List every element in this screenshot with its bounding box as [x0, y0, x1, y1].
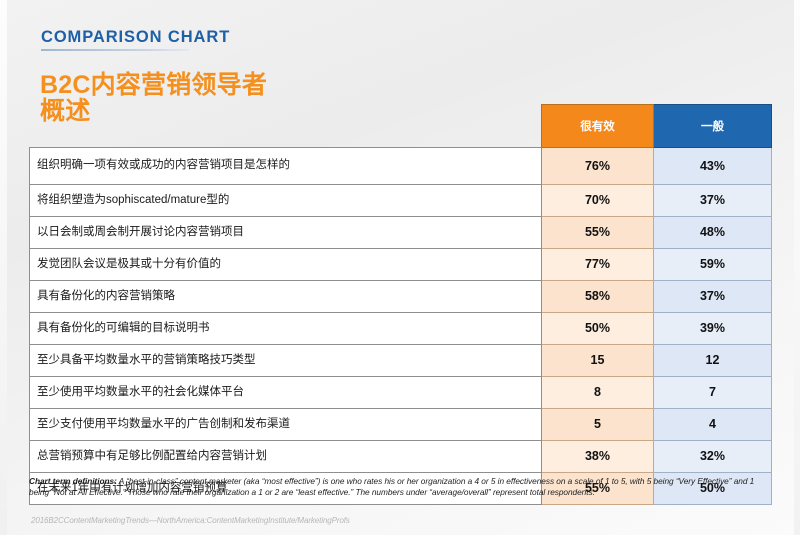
row-label: 至少使用平均数量水平的社会化媒体平台: [30, 377, 542, 409]
column-header-average: 一般: [654, 105, 772, 148]
cell-effective: 38%: [542, 441, 654, 473]
footnote-body: A “best-in-class” content marketer (aka …: [29, 476, 754, 497]
footnote-lead: Chart term definitions:: [29, 476, 117, 486]
cell-average: 37%: [654, 185, 772, 217]
footnote: Chart term definitions: A “best-in-class…: [29, 476, 774, 499]
row-label: 总营销预算中有足够比例配置给内容营销计划: [30, 441, 542, 473]
cell-average: 59%: [654, 249, 772, 281]
table-body: 组织明确一项有效或成功的内容营销项目是怎样的76%43%将组织塑造为sophis…: [30, 148, 772, 505]
row-label: 将组织塑造为sophiscated/mature型的: [30, 185, 542, 217]
column-header-blank: [30, 105, 542, 148]
kicker-block: COMPARISON CHART: [41, 27, 491, 51]
kicker-label: COMPARISON CHART: [41, 27, 491, 47]
row-label: 至少支付使用平均数量水平的广告创制和发布渠道: [30, 409, 542, 441]
slide: COMPARISON CHART B2C内容营销领导者 概述 很有效 一般 组织…: [0, 0, 800, 535]
cell-effective: 50%: [542, 313, 654, 345]
cell-effective: 76%: [542, 148, 654, 185]
table-header-row: 很有效 一般: [30, 105, 772, 148]
kicker-underline: [41, 49, 189, 51]
table-row: 至少使用平均数量水平的社会化媒体平台87: [30, 377, 772, 409]
column-header-effective: 很有效: [542, 105, 654, 148]
cell-average: 7: [654, 377, 772, 409]
cell-effective: 5: [542, 409, 654, 441]
page-title-line-1: B2C内容营销领导者: [40, 71, 267, 99]
table-row: 至少具备平均数量水平的营销策略技巧类型1512: [30, 345, 772, 377]
table-row: 总营销预算中有足够比例配置给内容营销计划38%32%: [30, 441, 772, 473]
cell-effective: 70%: [542, 185, 654, 217]
row-label: 以日会制或周会制开展讨论内容营销项目: [30, 217, 542, 249]
row-label: 具有备份化的可编辑的目标说明书: [30, 313, 542, 345]
table-row: 具有备份化的可编辑的目标说明书50%39%: [30, 313, 772, 345]
cell-effective: 15: [542, 345, 654, 377]
table-row: 以日会制或周会制开展讨论内容营销项目55%48%: [30, 217, 772, 249]
row-label: 至少具备平均数量水平的营销策略技巧类型: [30, 345, 542, 377]
table-row: 至少支付使用平均数量水平的广告创制和发布渠道54: [30, 409, 772, 441]
cell-average: 12: [654, 345, 772, 377]
cell-average: 48%: [654, 217, 772, 249]
cell-average: 39%: [654, 313, 772, 345]
table-header: 很有效 一般: [30, 105, 772, 148]
source-citation: 2016B2CContentMarketingTrends—NorthAmeri…: [31, 516, 631, 525]
cell-average: 4: [654, 409, 772, 441]
cell-average: 43%: [654, 148, 772, 185]
cell-effective: 58%: [542, 281, 654, 313]
table-row: 组织明确一项有效或成功的内容营销项目是怎样的76%43%: [30, 148, 772, 185]
table-row: 发觉团队会议是极其或十分有价值的77%59%: [30, 249, 772, 281]
cell-average: 32%: [654, 441, 772, 473]
comparison-table-wrapper: 很有效 一般 组织明确一项有效或成功的内容营销项目是怎样的76%43%将组织塑造…: [29, 104, 771, 505]
cell-effective: 77%: [542, 249, 654, 281]
cell-average: 37%: [654, 281, 772, 313]
row-label: 发觉团队会议是极其或十分有价值的: [30, 249, 542, 281]
comparison-table: 很有效 一般 组织明确一项有效或成功的内容营销项目是怎样的76%43%将组织塑造…: [29, 104, 772, 505]
cell-effective: 55%: [542, 217, 654, 249]
row-label: 具有备份化的内容营销策略: [30, 281, 542, 313]
cell-effective: 8: [542, 377, 654, 409]
table-row: 将组织塑造为sophiscated/mature型的70%37%: [30, 185, 772, 217]
table-row: 具有备份化的内容营销策略58%37%: [30, 281, 772, 313]
row-label: 组织明确一项有效或成功的内容营销项目是怎样的: [30, 148, 542, 185]
